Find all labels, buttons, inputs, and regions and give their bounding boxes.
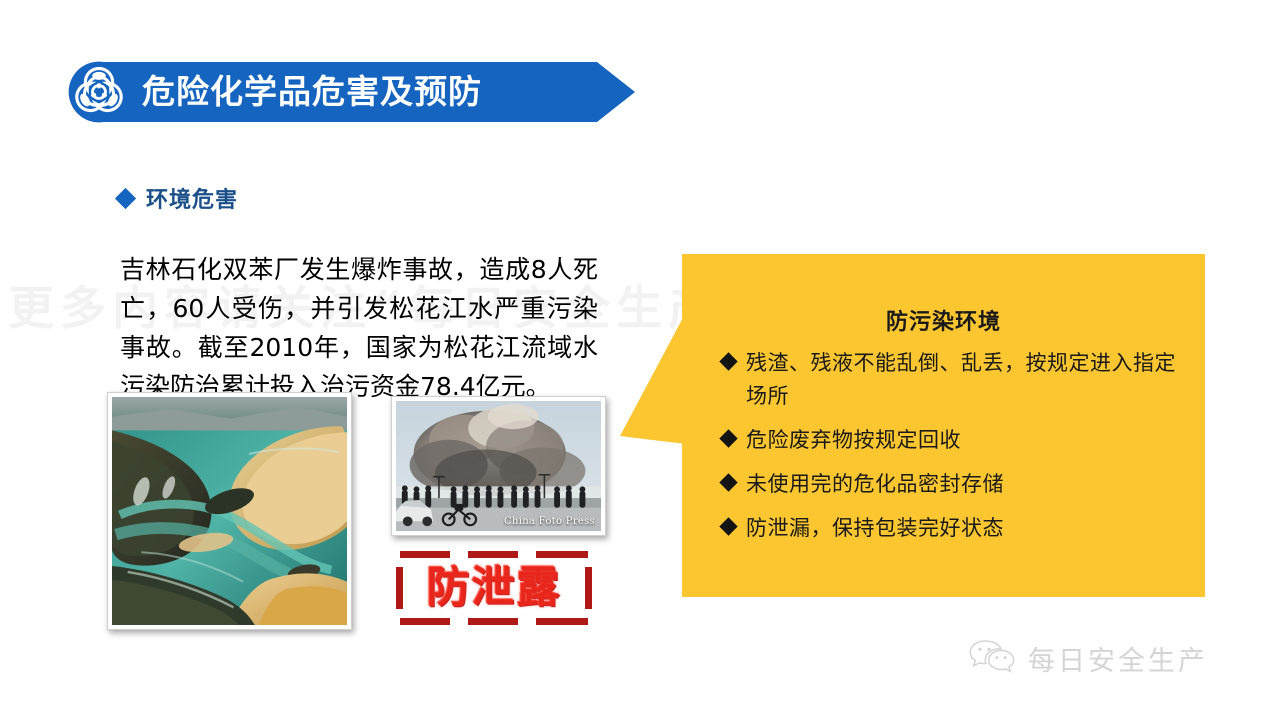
header-banner: 危险化学品危害及预防 — [98, 62, 635, 122]
footer-watermark: 每日安全生产 — [968, 638, 1208, 678]
section-heading: 环境危害 — [118, 182, 238, 214]
footer-watermark-text: 每日安全生产 — [1028, 639, 1208, 678]
stamp-label: 防泄露 — [396, 551, 592, 625]
body-paragraph: 吉林石化双苯厂发生爆炸事故，造成8人死亡，60人受伤，并引发松花江水严重污染事故… — [120, 250, 598, 406]
explosion-smoke-photo: China Foto Press — [391, 396, 606, 536]
diamond-icon — [719, 517, 737, 535]
list-item-label: 防泄漏，保持包装完好状态 — [746, 512, 1004, 545]
polluted-river-photo — [107, 392, 352, 630]
section-heading-label: 环境危害 — [146, 182, 238, 214]
photo-credit: China Foto Press — [504, 516, 595, 527]
leak-prevention-stamp: 防泄露 — [396, 551, 592, 625]
list-item-label: 残渣、残液不能乱倒、乱丢，按规定进入指定场所 — [746, 347, 1187, 413]
wechat-icon — [968, 638, 1016, 678]
list-item: 防泄漏，保持包装完好状态 — [722, 512, 1187, 545]
polluted-river-photo-image — [112, 397, 347, 625]
callout-pointer — [620, 312, 686, 444]
list-item: 危险废弃物按规定回收 — [722, 424, 1187, 457]
page-title: 危险化学品危害及预防 — [142, 62, 482, 122]
slide-canvas: 更多内容请关注“每日安全生产” 危险化学品危害及预防 — [0, 0, 1280, 720]
diamond-icon — [719, 429, 737, 447]
list-item: 残渣、残液不能乱倒、乱丢，按规定进入指定场所 — [722, 347, 1187, 413]
biohazard-icon — [68, 61, 130, 123]
list-item-label: 危险废弃物按规定回收 — [746, 424, 961, 457]
explosion-smoke-photo-image: China Foto Press — [396, 401, 601, 531]
prevention-callout-box: 防污染环境 残渣、残液不能乱倒、乱丢，按规定进入指定场所 危险废弃物按规定回收 … — [682, 254, 1205, 597]
callout-list: 残渣、残液不能乱倒、乱丢，按规定进入指定场所 危险废弃物按规定回收 未使用完的危… — [722, 347, 1187, 556]
diamond-icon — [719, 352, 737, 370]
callout-title: 防污染环境 — [682, 304, 1205, 336]
diamond-icon — [115, 187, 136, 208]
diamond-icon — [719, 473, 737, 491]
list-item: 未使用完的危化品密封存储 — [722, 468, 1187, 501]
list-item-label: 未使用完的危化品密封存储 — [746, 468, 1004, 501]
